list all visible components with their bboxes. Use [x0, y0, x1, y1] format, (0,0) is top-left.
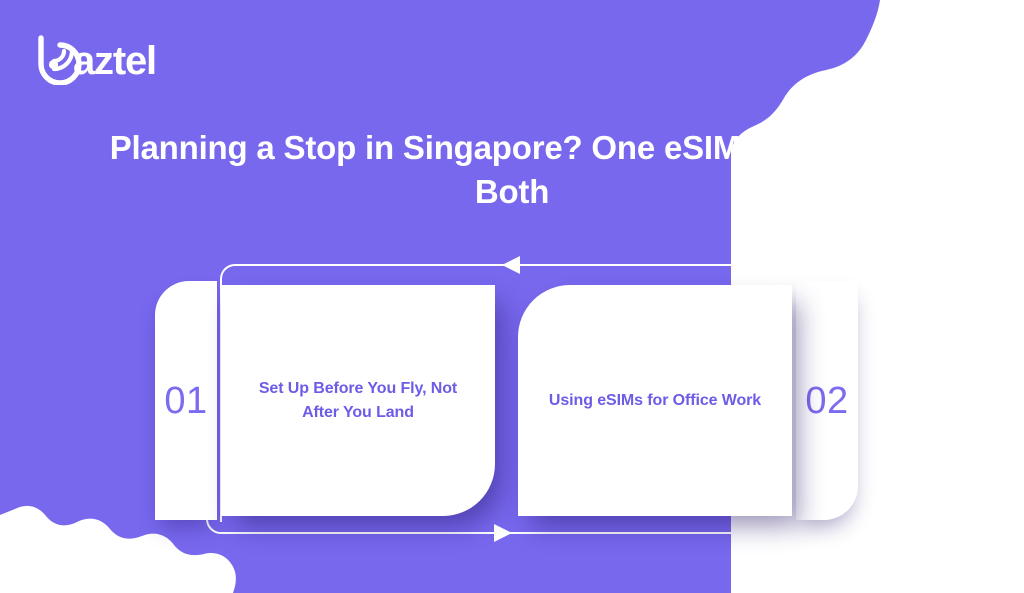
infographic-canvas: aztel Planning a Stop in Singapore? One … [0, 0, 1024, 593]
top-arrow-head [502, 256, 520, 274]
diagram-connectors [0, 0, 1024, 593]
step-content-card-02[interactable]: Using eSIMs for Office Work [518, 285, 792, 516]
step-number-badge-02: 02 [796, 281, 858, 520]
step-label-01: Set Up Before You Fly, Not After You Lan… [243, 377, 473, 425]
bottom-arrow-head [494, 524, 512, 542]
step-card-01[interactable]: 01 Set Up Before You Fly, Not After You … [155, 281, 495, 520]
step-number-02: 02 [805, 382, 848, 420]
step-number-01: 01 [164, 382, 207, 420]
cycle-diagram: 01 Set Up Before You Fly, Not After You … [0, 0, 1024, 593]
step-number-badge-01: 01 [155, 281, 217, 520]
step-label-02: Using eSIMs for Office Work [540, 389, 770, 413]
step-content-card-01[interactable]: Set Up Before You Fly, Not After You Lan… [221, 285, 495, 516]
step-card-02[interactable]: 02 Using eSIMs for Office Work [518, 281, 858, 520]
